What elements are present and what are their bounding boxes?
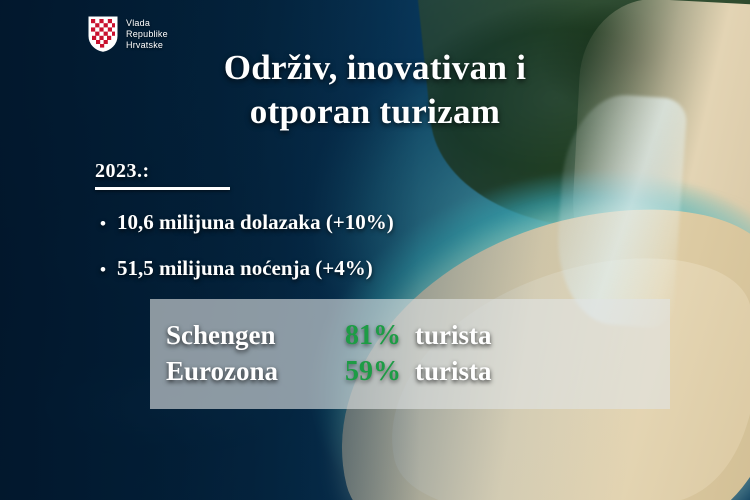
bullet-list: • 10,6 milijuna dolazaka (+10%) • 51,5 m… bbox=[100, 200, 394, 292]
stat-row: Eurozona 59% turista bbox=[166, 356, 670, 388]
stat-percent: 81% bbox=[345, 320, 401, 352]
bullet-marker-icon: • bbox=[100, 248, 106, 292]
stat-row: Schengen 81% turista bbox=[166, 320, 670, 352]
year-heading: 2023.: bbox=[95, 160, 230, 190]
stats-panel: Schengen 81% turista Eurozona 59% turist… bbox=[150, 299, 670, 409]
stat-suffix: turista bbox=[415, 356, 492, 387]
stat-suffix: turista bbox=[415, 320, 492, 351]
stat-percent: 59% bbox=[345, 356, 401, 388]
list-item: • 51,5 milijuna noćenja (+4%) bbox=[100, 246, 394, 292]
slide-title-line-2: otporan turizam bbox=[0, 90, 750, 134]
stat-label: Schengen bbox=[166, 320, 331, 351]
bullet-text: 10,6 milijuna dolazaka (+10%) bbox=[117, 200, 394, 244]
year-underline bbox=[95, 187, 230, 190]
bullet-marker-icon: • bbox=[100, 202, 106, 246]
logo-line-2: Republike bbox=[126, 29, 168, 40]
presentation-slide: Vlada Republike Hrvatske Održiv, inovati… bbox=[0, 0, 750, 500]
stat-label: Eurozona bbox=[166, 356, 331, 387]
year-label: 2023.: bbox=[95, 160, 230, 183]
bullet-text: 51,5 milijuna noćenja (+4%) bbox=[117, 246, 373, 290]
slide-title: Održiv, inovativan i otporan turizam bbox=[0, 46, 750, 134]
list-item: • 10,6 milijuna dolazaka (+10%) bbox=[100, 200, 394, 246]
logo-line-1: Vlada bbox=[126, 18, 168, 29]
slide-title-line-1: Održiv, inovativan i bbox=[224, 48, 527, 87]
